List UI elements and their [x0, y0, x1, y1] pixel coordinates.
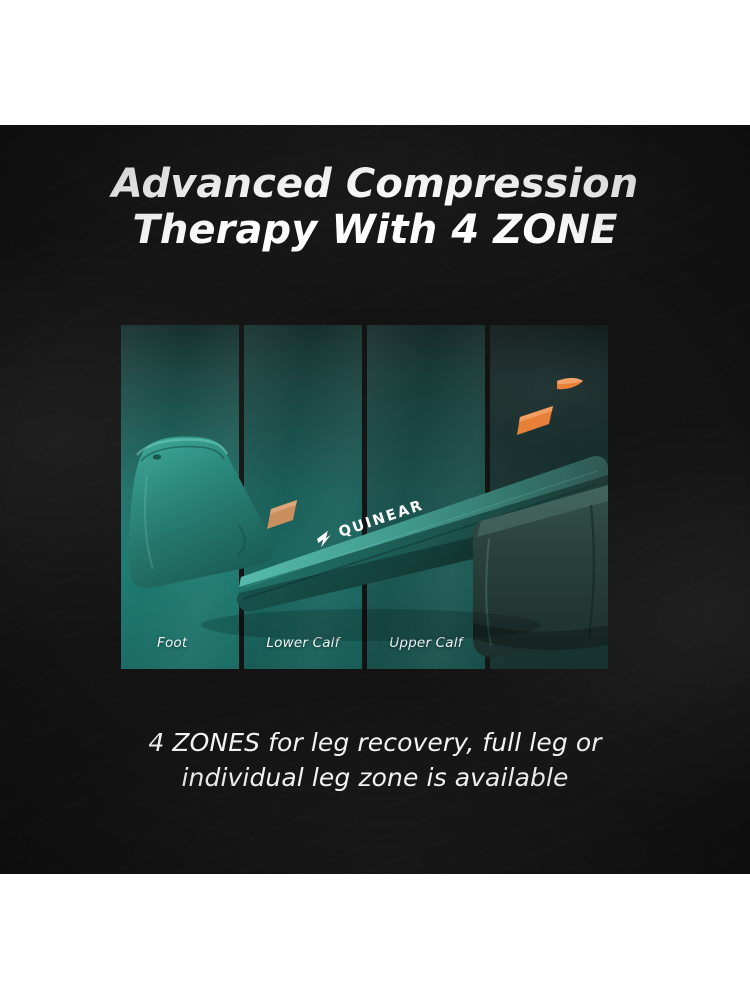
zone-panel-thigh[interactable]: Thigh: [490, 325, 608, 669]
zone-panel-group: Foot Lower Calf Upper Calf Thigh: [121, 325, 608, 669]
zone-label-foot: Foot: [121, 635, 239, 651]
zone-panel-upper-calf[interactable]: Upper Calf: [367, 325, 485, 669]
zone-panel-thigh-sheen: [490, 325, 608, 669]
zone-panel-foot-sheen: [121, 325, 239, 669]
zone-panel-upper-calf-sheen: [367, 325, 485, 669]
caption-line-1: 4 ZONES for leg recovery, full leg or: [148, 728, 601, 757]
promo-creative-panel: Advanced Compression Therapy With 4 ZONE…: [0, 125, 750, 874]
caption-line-2: individual leg zone is available: [0, 760, 750, 795]
zone-label-thigh: Thigh: [490, 635, 608, 651]
zone-panel-lower-calf-sheen: [244, 325, 362, 669]
zone-label-upper-calf: Upper Calf: [367, 635, 485, 651]
headline-line-2: Therapy With 4 ZONE: [0, 207, 750, 253]
zone-panel-foot[interactable]: Foot: [121, 325, 239, 669]
caption: 4 ZONES for leg recovery, full leg or in…: [0, 725, 750, 795]
zone-panel-lower-calf[interactable]: Lower Calf: [244, 325, 362, 669]
headline: Advanced Compression Therapy With 4 ZONE: [0, 161, 750, 253]
zone-label-lower-calf: Lower Calf: [244, 635, 362, 651]
zone-board: Foot Lower Calf Upper Calf Thigh: [121, 325, 608, 669]
headline-line-1: Advanced Compression: [112, 161, 639, 207]
